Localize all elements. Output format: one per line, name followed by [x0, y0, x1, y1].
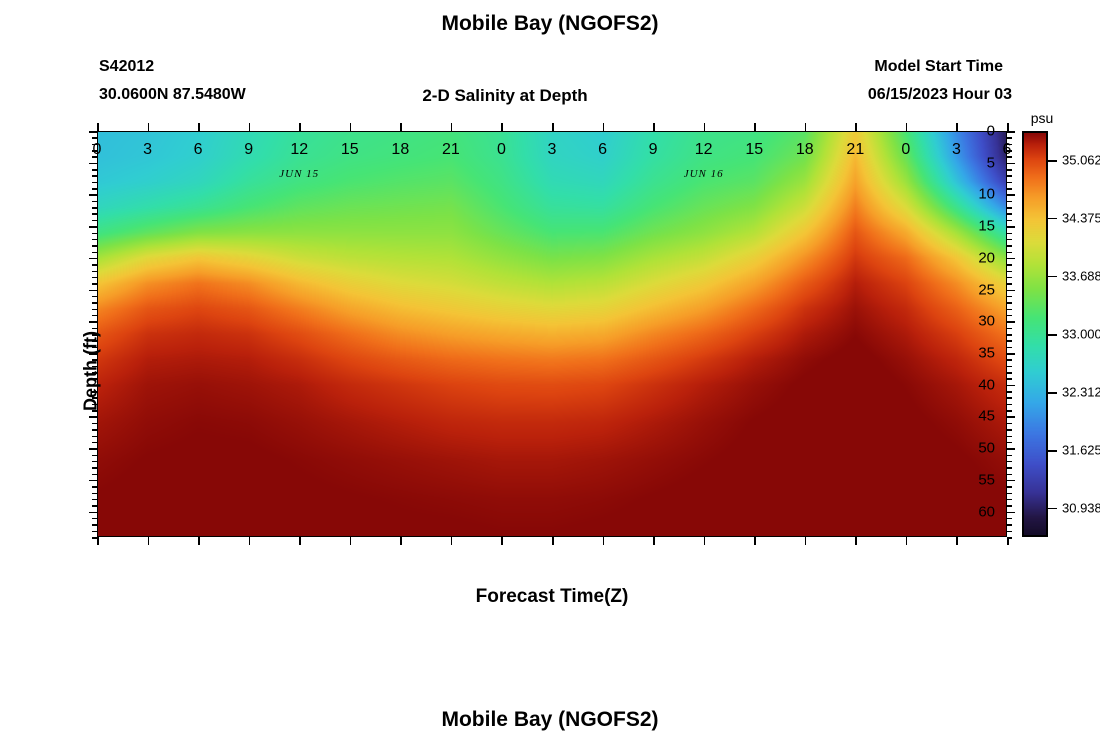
y-minor-tick: [92, 524, 97, 526]
x-tick-mark: [603, 537, 605, 545]
y-minor-tick: [92, 467, 97, 469]
y-minor-tick: [92, 505, 97, 507]
y-minor-tick: [1007, 315, 1012, 317]
y-minor-tick: [92, 220, 97, 222]
model-start-time-value: 06/15/2023 Hour 03: [868, 86, 1012, 104]
x-tick-mark: [704, 123, 706, 131]
y-tick-mark: [89, 480, 97, 482]
x-tick-mark: [956, 123, 958, 131]
y-minor-tick: [92, 518, 97, 520]
y-minor-tick: [1007, 347, 1012, 349]
y-minor-tick: [1007, 201, 1012, 203]
salinity-figure: Mobile Bay (NGOFS2) S42012 30.0600N 87.5…: [0, 0, 1100, 750]
y-minor-tick: [92, 493, 97, 495]
x-tick-label: 21: [442, 141, 460, 159]
x-tick-mark: [653, 123, 655, 131]
y-minor-tick: [1007, 207, 1012, 209]
y-minor-tick: [92, 252, 97, 254]
x-tick-label: 0: [901, 141, 910, 159]
x-tick-label: 15: [341, 141, 359, 159]
y-minor-tick: [1007, 436, 1012, 438]
x-tick-mark: [501, 537, 503, 545]
x-tick-label: 18: [796, 141, 814, 159]
x-tick-mark: [653, 537, 655, 545]
y-tick-label: 25: [978, 281, 995, 298]
y-tick-label: 30: [978, 313, 995, 330]
y-minor-tick: [1007, 137, 1012, 139]
y-minor-tick: [1007, 188, 1012, 190]
colorbar-tick-label: 32.312: [1062, 385, 1100, 400]
colorbar-tick-mark: [1048, 450, 1057, 452]
y-minor-tick: [92, 302, 97, 304]
plot-subtitle: 2-D Salinity at Depth: [0, 86, 1010, 106]
y-minor-tick: [92, 277, 97, 279]
y-tick-mark: [1007, 163, 1015, 165]
x-tick-label: 6: [194, 141, 203, 159]
y-tick-mark: [89, 131, 97, 133]
colorbar: 35.06234.37533.68833.00032.31231.62530.9…: [1022, 131, 1048, 537]
y-minor-tick: [92, 499, 97, 501]
y-tick-mark: [89, 194, 97, 196]
y-tick-mark: [1007, 290, 1015, 292]
colorbar-tick-mark: [1048, 218, 1057, 220]
y-minor-tick: [92, 271, 97, 273]
x-tick-label: 18: [391, 141, 409, 159]
y-tick-mark: [1007, 416, 1015, 418]
y-minor-tick: [92, 233, 97, 235]
colorbar-tick-mark: [1048, 508, 1057, 510]
x-tick-mark: [552, 123, 554, 131]
y-minor-tick: [1007, 328, 1012, 330]
y-tick-label: 0: [987, 123, 995, 140]
x-tick-mark: [148, 537, 150, 545]
y-tick-label: 10: [978, 186, 995, 203]
x-tick-mark: [249, 537, 251, 545]
y-minor-tick: [92, 264, 97, 266]
x-tick-mark: [754, 123, 756, 131]
y-minor-tick: [92, 182, 97, 184]
colorbar-tick-label: 35.062: [1062, 153, 1100, 168]
y-minor-tick: [92, 531, 97, 533]
colorbar-tick-label: 30.938: [1062, 500, 1100, 515]
x-tick-label: 9: [649, 141, 658, 159]
y-tick-label: 55: [978, 471, 995, 488]
y-minor-tick: [1007, 378, 1012, 380]
y-minor-tick: [92, 283, 97, 285]
y-minor-tick: [92, 201, 97, 203]
x-tick-mark: [198, 123, 200, 131]
y-minor-tick: [92, 137, 97, 139]
y-minor-tick: [92, 315, 97, 317]
colorbar-tick-mark: [1048, 334, 1057, 336]
y-minor-tick: [92, 239, 97, 241]
y-minor-tick: [92, 436, 97, 438]
station-id: S42012: [99, 58, 154, 76]
x-tick-mark: [754, 537, 756, 545]
y-minor-tick: [1007, 239, 1012, 241]
x-tick-label: 15: [745, 141, 763, 159]
x-tick-label: 3: [952, 141, 961, 159]
x-tick-mark: [400, 537, 402, 545]
x-tick-mark: [1007, 123, 1009, 131]
y-minor-tick: [1007, 518, 1012, 520]
x-tick-mark: [704, 537, 706, 545]
colorbar-tick-label: 34.375: [1062, 210, 1100, 225]
y-minor-tick: [92, 429, 97, 431]
y-minor-tick: [92, 296, 97, 298]
y-minor-tick: [1007, 531, 1012, 533]
x-tick-mark: [350, 123, 352, 131]
y-axis-title: Depth (ft): [81, 331, 102, 411]
x-tick-mark: [451, 537, 453, 545]
y-minor-tick: [92, 455, 97, 457]
y-minor-tick: [92, 474, 97, 476]
colorbar-tick-label: 33.688: [1062, 268, 1100, 283]
x-tick-mark: [249, 123, 251, 131]
y-minor-tick: [1007, 474, 1012, 476]
y-minor-tick: [1007, 423, 1012, 425]
y-tick-mark: [1007, 512, 1015, 514]
y-minor-tick: [1007, 245, 1012, 247]
colorbar-tick-label: 33.000: [1062, 327, 1100, 342]
colorbar-tick-mark: [1048, 392, 1057, 394]
y-tick-mark: [1007, 258, 1015, 260]
x-tick-mark: [855, 123, 857, 131]
y-tick-mark: [89, 416, 97, 418]
y-minor-tick: [1007, 359, 1012, 361]
y-minor-tick: [1007, 467, 1012, 469]
y-tick-mark: [1007, 385, 1015, 387]
y-minor-tick: [92, 188, 97, 190]
colorbar-gradient: [1022, 131, 1048, 537]
y-tick-mark: [1007, 448, 1015, 450]
y-minor-tick: [1007, 175, 1012, 177]
x-tick-label: 3: [143, 141, 152, 159]
y-tick-mark: [89, 226, 97, 228]
x-tick-label: 0: [497, 141, 506, 159]
y-minor-tick: [1007, 505, 1012, 507]
x-tick-label: 6: [598, 141, 607, 159]
y-minor-tick: [1007, 252, 1012, 254]
y-minor-tick: [1007, 169, 1012, 171]
y-minor-tick: [1007, 461, 1012, 463]
colorbar-tick-label: 31.625: [1062, 443, 1100, 458]
x-tick-mark: [552, 537, 554, 545]
colorbar-unit-label: psu: [1022, 110, 1062, 126]
x-tick-mark: [1007, 537, 1009, 545]
salinity-heatmap-canvas: [97, 131, 1007, 537]
y-tick-label: 60: [978, 503, 995, 520]
x-tick-label: 12: [290, 141, 308, 159]
y-minor-tick: [1007, 213, 1012, 215]
y-tick-mark: [89, 258, 97, 260]
y-minor-tick: [1007, 220, 1012, 222]
x-tick-mark: [148, 123, 150, 131]
y-minor-tick: [1007, 442, 1012, 444]
page-title: Mobile Bay (NGOFS2): [0, 12, 1100, 36]
y-tick-mark: [89, 512, 97, 514]
y-minor-tick: [1007, 309, 1012, 311]
y-minor-tick: [1007, 182, 1012, 184]
x-tick-mark: [451, 123, 453, 131]
y-minor-tick: [1007, 397, 1012, 399]
x-tick-label: 21: [846, 141, 864, 159]
y-minor-tick: [1007, 391, 1012, 393]
y-tick-label: 35: [978, 345, 995, 362]
x-tick-label: 12: [695, 141, 713, 159]
x-tick-mark: [350, 537, 352, 545]
x-tick-mark: [97, 123, 99, 131]
y-tick-mark: [89, 290, 97, 292]
y-tick-mark: [1007, 321, 1015, 323]
x-axis-title: Forecast Time(Z): [97, 586, 1007, 608]
y-minor-tick: [92, 207, 97, 209]
x-tick-mark: [855, 537, 857, 545]
model-start-time-label: Model Start Time: [874, 58, 1003, 76]
x-tick-label: 3: [548, 141, 557, 159]
y-minor-tick: [92, 213, 97, 215]
y-minor-tick: [1007, 410, 1012, 412]
x-tick-mark: [906, 123, 908, 131]
y-minor-tick: [92, 442, 97, 444]
x-tick-mark: [299, 537, 301, 545]
y-minor-tick: [1007, 404, 1012, 406]
y-minor-tick: [92, 328, 97, 330]
y-tick-mark: [1007, 353, 1015, 355]
x-tick-mark: [956, 537, 958, 545]
x-tick-mark: [805, 537, 807, 545]
x-tick-label: 6: [1003, 141, 1012, 159]
x-tick-label: 9: [244, 141, 253, 159]
y-minor-tick: [1007, 499, 1012, 501]
colorbar-tick-mark: [1048, 160, 1057, 162]
y-tick-label: 40: [978, 376, 995, 393]
y-minor-tick: [1007, 264, 1012, 266]
y-tick-label: 15: [978, 218, 995, 235]
y-tick-mark: [89, 448, 97, 450]
y-minor-tick: [1007, 372, 1012, 374]
y-tick-mark: [1007, 226, 1015, 228]
y-minor-tick: [92, 423, 97, 425]
y-minor-tick: [1007, 334, 1012, 336]
y-minor-tick: [1007, 302, 1012, 304]
y-minor-tick: [92, 461, 97, 463]
y-minor-tick: [1007, 271, 1012, 273]
x-tick-label: 0: [93, 141, 102, 159]
y-minor-tick: [1007, 366, 1012, 368]
y-tick-mark: [89, 163, 97, 165]
y-minor-tick: [1007, 277, 1012, 279]
y-tick-mark: [1007, 480, 1015, 482]
y-minor-tick: [92, 169, 97, 171]
y-minor-tick: [92, 175, 97, 177]
y-minor-tick: [92, 245, 97, 247]
x-tick-mark: [97, 537, 99, 545]
y-minor-tick: [1007, 486, 1012, 488]
y-minor-tick: [1007, 429, 1012, 431]
y-tick-label: 45: [978, 408, 995, 425]
x-tick-mark: [603, 123, 605, 131]
y-minor-tick: [92, 486, 97, 488]
x-tick-mark: [501, 123, 503, 131]
y-minor-tick: [1007, 455, 1012, 457]
x-tick-mark: [400, 123, 402, 131]
y-minor-tick: [1007, 296, 1012, 298]
x-axis-day-label: JUN 16: [684, 168, 724, 180]
y-tick-mark: [1007, 194, 1015, 196]
y-minor-tick: [1007, 340, 1012, 342]
x-tick-mark: [906, 537, 908, 545]
colorbar-tick-mark: [1048, 276, 1057, 278]
y-tick-mark: [1007, 131, 1015, 133]
y-tick-label: 20: [978, 249, 995, 266]
x-tick-mark: [805, 123, 807, 131]
y-tick-label: 5: [987, 154, 995, 171]
x-tick-mark: [198, 537, 200, 545]
y-tick-label: 50: [978, 440, 995, 457]
heatmap-plot-area: 051015202530354045505560 036912151821036…: [97, 131, 1007, 537]
y-minor-tick: [92, 309, 97, 311]
y-minor-tick: [1007, 283, 1012, 285]
y-minor-tick: [1007, 233, 1012, 235]
footer-title: Mobile Bay (NGOFS2): [0, 708, 1100, 732]
y-tick-mark: [89, 321, 97, 323]
y-minor-tick: [1007, 524, 1012, 526]
x-axis-day-label: JUN 15: [279, 168, 319, 180]
x-tick-mark: [299, 123, 301, 131]
y-minor-tick: [1007, 493, 1012, 495]
